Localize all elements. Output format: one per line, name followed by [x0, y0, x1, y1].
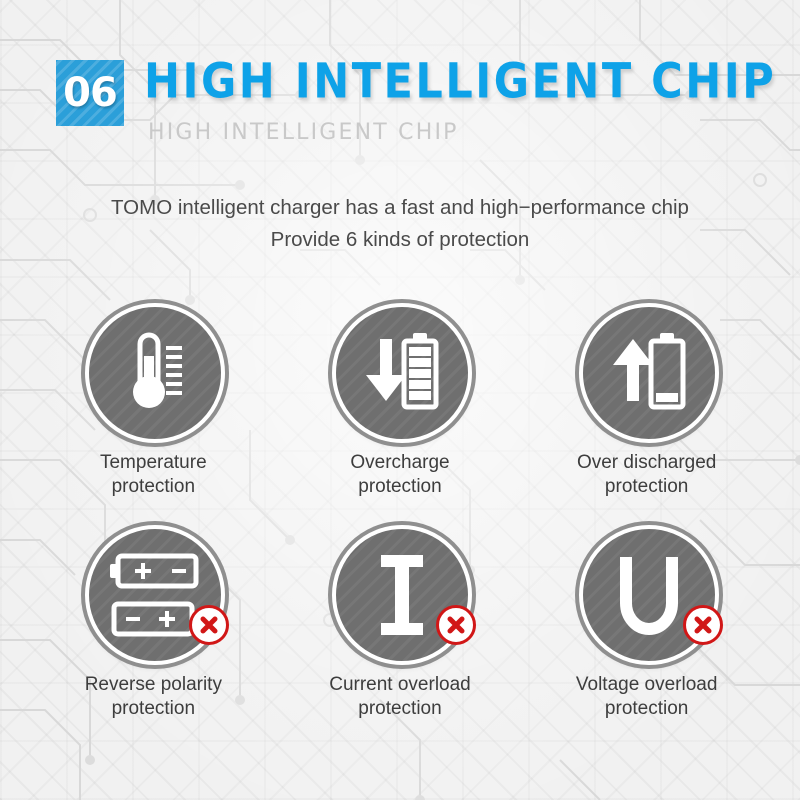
feature-caption: Overcharge protection: [350, 451, 449, 499]
page-title: HIGH INTELLIGENT CHIP: [144, 54, 776, 110]
section-number: 06: [63, 70, 117, 116]
intro-paragraph: TOMO intelligent charger has a fast and …: [0, 192, 800, 256]
current-letter-i-icon: [371, 553, 433, 637]
thermometer-icon: [118, 330, 192, 416]
feature-caption: Temperature protection: [100, 451, 207, 499]
caption-line-2: protection: [577, 475, 716, 499]
voltage-letter-u-icon: [614, 553, 684, 637]
close-x-icon: [693, 615, 713, 635]
prohibited-x-badge: [436, 605, 476, 645]
infographic-page: 06 HIGH INTELLIGENT CHIP HIGH INTELLIGEN…: [0, 0, 800, 800]
feature-item-current-overload: Current overload protection: [277, 523, 524, 721]
icon-container: [577, 301, 717, 441]
icon-container: [577, 523, 717, 663]
feature-caption: Voltage overload protection: [576, 673, 718, 721]
close-x-icon: [446, 615, 466, 635]
prohibited-x-badge: [189, 605, 229, 645]
icon-container: [330, 301, 470, 441]
icon-container: [83, 523, 223, 663]
icon-circle: [332, 303, 472, 443]
icon-container: [330, 523, 470, 663]
caption-line-2: protection: [85, 697, 222, 721]
feature-caption: Current overload protection: [329, 673, 471, 721]
close-x-icon: [199, 615, 219, 635]
intro-line-2: Provide 6 kinds of protection: [0, 224, 800, 256]
page-subtitle-ghost: HIGH INTELLIGENT CHIP: [148, 120, 459, 145]
header: 06 HIGH INTELLIGENT CHIP HIGH INTELLIGEN…: [56, 58, 760, 150]
intro-line-1: TOMO intelligent charger has a fast and …: [0, 192, 800, 224]
feature-item-over-discharged: Over discharged protection: [523, 301, 770, 499]
feature-item-reverse-polarity: Reverse polarity protection: [30, 523, 277, 721]
feature-item-temperature: Temperature protection: [30, 301, 277, 499]
prohibited-x-badge: [683, 605, 723, 645]
caption-line-2: protection: [329, 697, 471, 721]
icon-circle: [579, 303, 719, 443]
caption-line-1: Overcharge: [350, 452, 449, 473]
feature-item-voltage-overload: Voltage overload protection: [523, 523, 770, 721]
battery-down-arrow-icon: [356, 331, 448, 415]
caption-line-1: Voltage overload: [576, 674, 718, 695]
feature-caption: Over discharged protection: [577, 451, 716, 499]
caption-line-2: protection: [576, 697, 718, 721]
caption-line-2: protection: [100, 475, 207, 499]
section-number-badge: 06: [56, 60, 124, 126]
icon-circle: [85, 303, 225, 443]
caption-line-1: Current overload: [329, 674, 471, 695]
caption-line-2: protection: [350, 475, 449, 499]
protection-feature-grid: Temperature protection: [30, 301, 770, 721]
battery-up-arrow-icon: [603, 331, 695, 415]
caption-line-1: Temperature: [100, 452, 207, 473]
icon-container: [83, 301, 223, 441]
feature-item-overcharge: Overcharge protection: [277, 301, 524, 499]
caption-line-1: Reverse polarity: [85, 674, 222, 695]
feature-caption: Reverse polarity protection: [85, 673, 222, 721]
caption-line-1: Over discharged: [577, 452, 716, 473]
